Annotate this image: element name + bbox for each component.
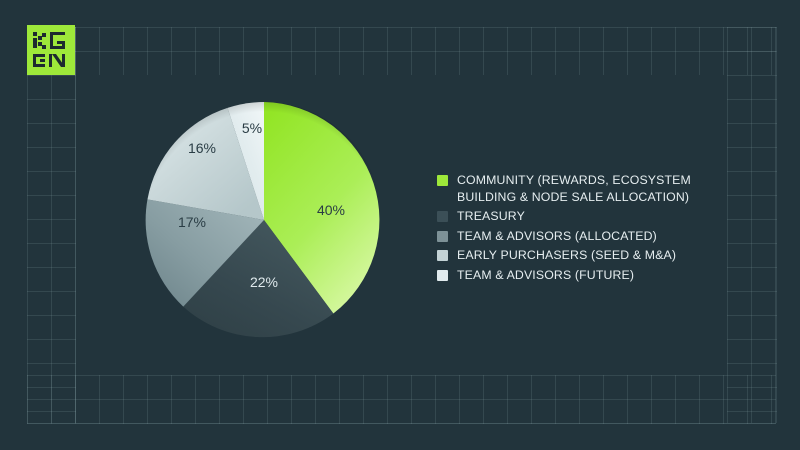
legend-item-label: TEAM & ADVISORS (FUTURE) xyxy=(457,267,634,284)
pie-label-team-future: 5% xyxy=(242,120,262,136)
legend-item-team-future[interactable]: TEAM & ADVISORS (FUTURE) xyxy=(437,267,717,284)
pie-label-community: 40% xyxy=(317,202,345,218)
kgen-logo-mark xyxy=(27,25,75,75)
legend-item-treasury[interactable]: TREASURY xyxy=(437,208,717,225)
grid-frame-top xyxy=(27,27,776,75)
legend-item-label: TEAM & ADVISORS (ALLOCATED) xyxy=(457,228,657,245)
grid-frame-left xyxy=(27,27,76,423)
grid-frame-right xyxy=(727,27,777,423)
legend-item-label: TREASURY xyxy=(457,208,525,225)
legend-swatch-icon xyxy=(437,270,448,281)
pie-chart: 40% 22% 17% 16% 5% xyxy=(144,100,384,340)
chart-legend: COMMUNITY (REWARDS, ECOSYSTEM BUILDING &… xyxy=(437,172,717,286)
legend-item-early-purchasers[interactable]: EARLY PURCHASERS (SEED & M&A) xyxy=(437,247,717,264)
pie-chart-svg: 40% 22% 17% 16% 5% xyxy=(144,100,384,340)
legend-item-community[interactable]: COMMUNITY (REWARDS, ECOSYSTEM BUILDING &… xyxy=(437,172,717,205)
slide-canvas: 40% 22% 17% 16% 5% COMMUNITY (REWARDS, E… xyxy=(0,0,800,450)
pie-label-team-allocated: 17% xyxy=(178,214,206,230)
kgen-logo[interactable] xyxy=(27,25,75,75)
legend-item-label: EARLY PURCHASERS (SEED & M&A) xyxy=(457,247,676,264)
legend-swatch-icon xyxy=(437,211,448,222)
legend-item-team-allocated[interactable]: TEAM & ADVISORS (ALLOCATED) xyxy=(437,228,717,245)
grid-frame-bottom xyxy=(27,375,776,424)
pie-label-early-purchasers: 16% xyxy=(188,140,216,156)
pie-label-treasury: 22% xyxy=(250,274,278,290)
legend-swatch-icon xyxy=(437,175,448,186)
legend-swatch-icon xyxy=(437,231,448,242)
legend-swatch-icon xyxy=(437,250,448,261)
legend-item-label: COMMUNITY (REWARDS, ECOSYSTEM BUILDING &… xyxy=(457,172,691,205)
